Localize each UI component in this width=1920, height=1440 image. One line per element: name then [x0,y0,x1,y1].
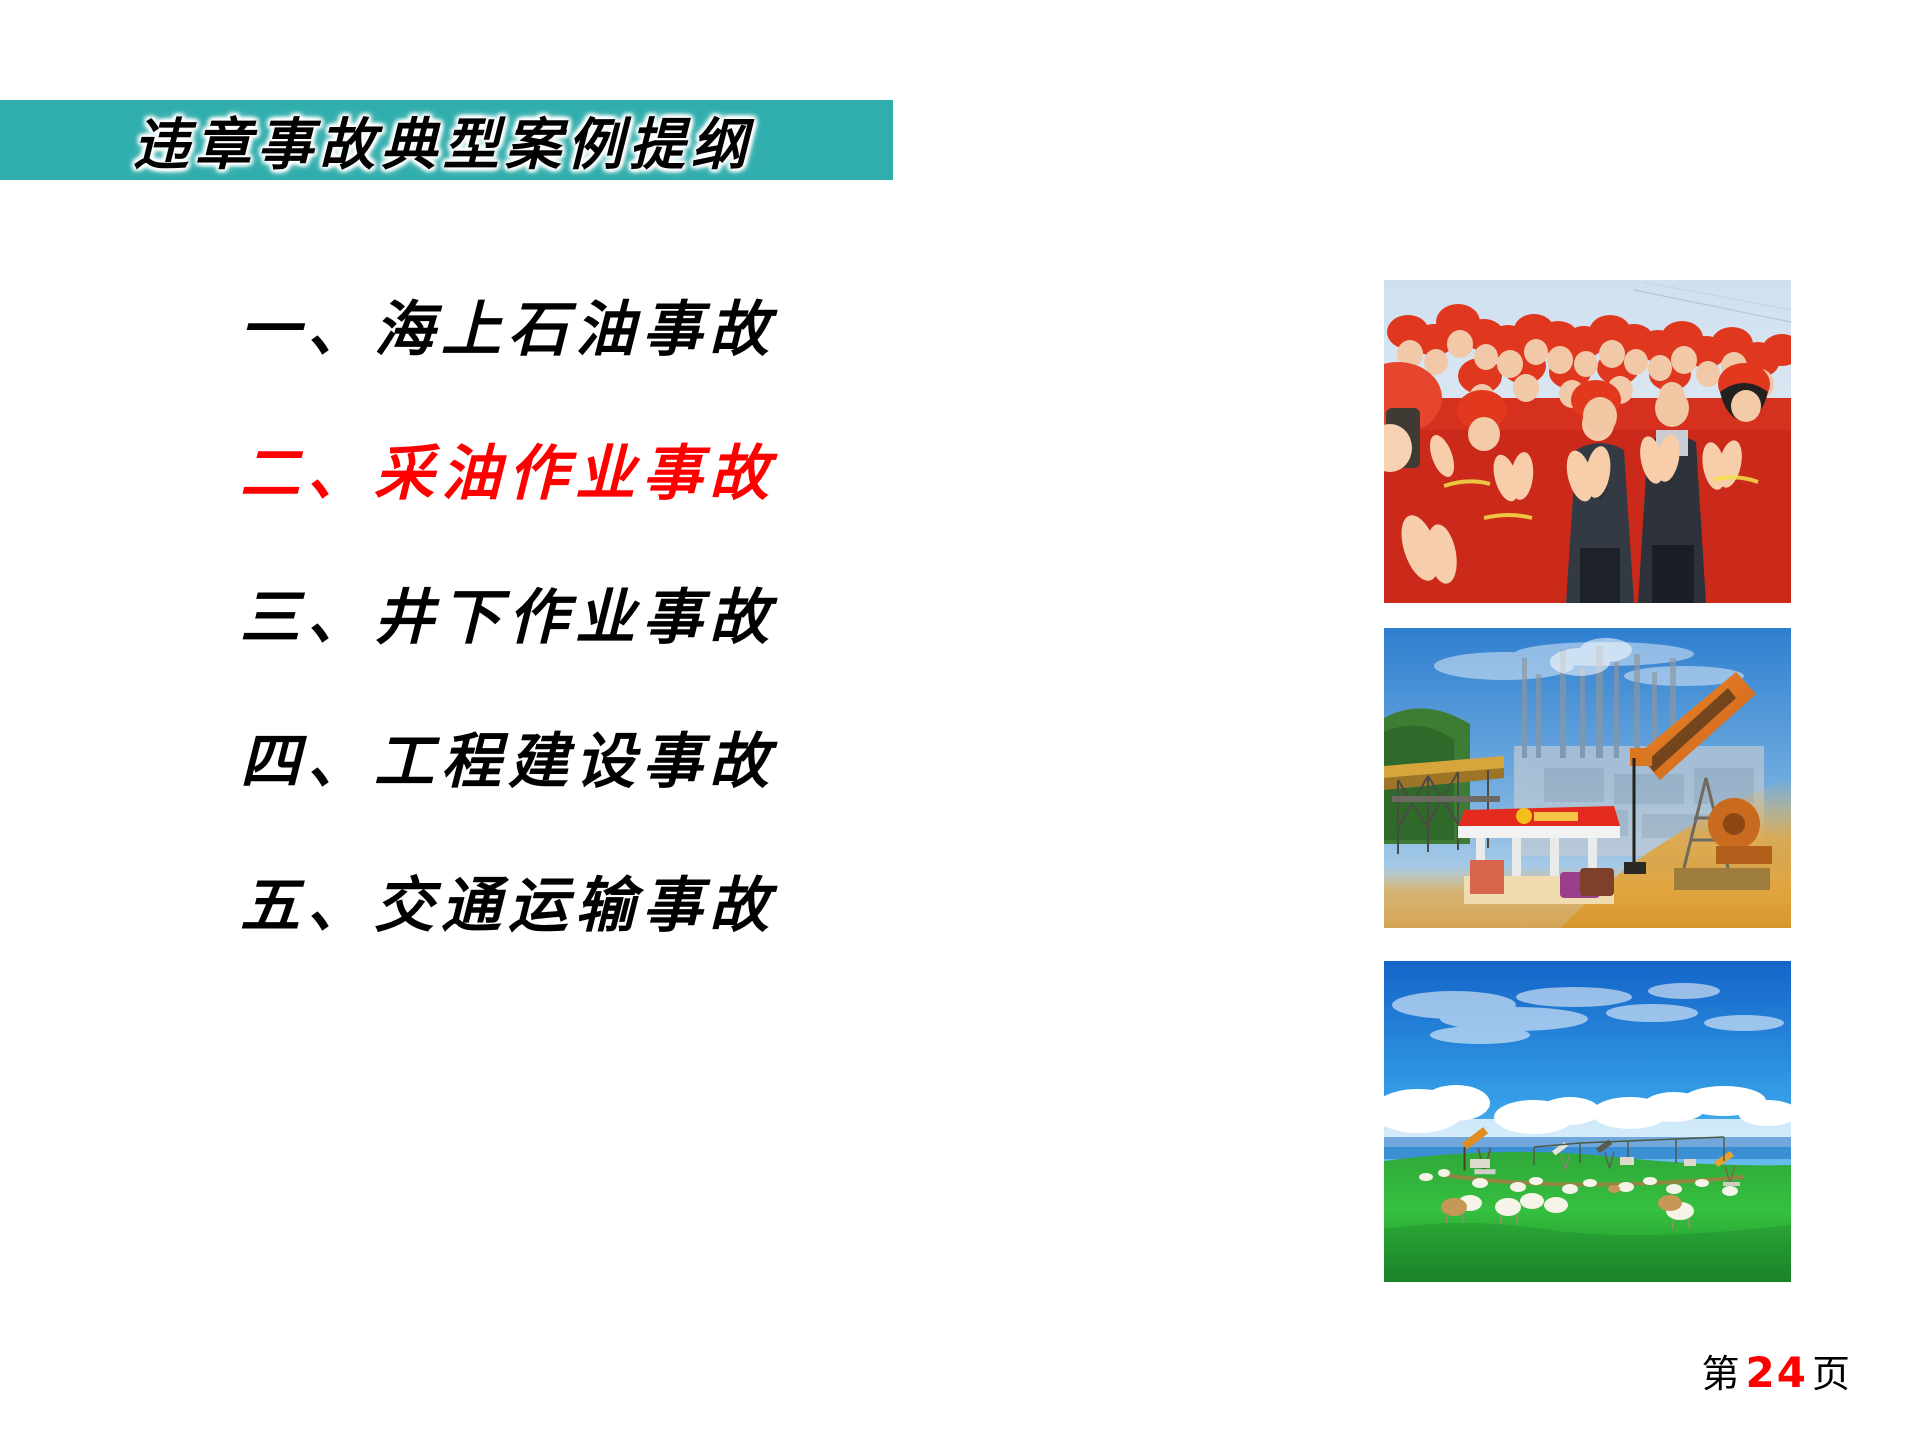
outline-item-4-label: 工程建设事故 [374,727,776,797]
outline-item-1-label: 海上石油事故 [374,295,776,365]
page-number-suffix: 页 [1812,1352,1852,1396]
page-number-footer: 第24页 [1702,1343,1852,1398]
outline-item-5-label: 交通运输事故 [374,871,776,941]
slide-canvas: 违章事故典型案例提纲 一、海上石油事故 二、采油作业事故 三、井下作业事故 四、… [0,0,1920,1440]
outline-item-1-number: 一、 [240,295,374,365]
outline-item-3[interactable]: 三、井下作业事故 [240,588,1060,648]
outline-item-2-label: 采油作业事故 [374,439,776,509]
petroleum-industry-composite-photo [1384,628,1791,928]
outline-item-5-number: 五、 [240,871,374,941]
outline-item-3-label: 井下作业事故 [374,583,776,653]
outline-item-2[interactable]: 二、采油作业事故 [240,444,1060,504]
outline-list: 一、海上石油事故 二、采油作业事故 三、井下作业事故 四、工程建设事故 五、交通… [240,300,1060,936]
outline-item-5[interactable]: 五、交通运输事故 [240,876,1060,936]
outline-item-4[interactable]: 四、工程建设事故 [240,732,1060,792]
outline-item-4-number: 四、 [240,727,374,797]
oilfield-workers-applauding-photo [1384,280,1791,603]
outline-item-3-number: 三、 [240,583,374,653]
outline-item-2-number: 二、 [240,439,374,509]
outline-item-1[interactable]: 一、海上石油事故 [240,300,1060,360]
page-title: 违章事故典型案例提纲 [0,100,893,180]
page-number-value: 24 [1742,1348,1812,1397]
grassland-oilfield-photo [1384,961,1791,1282]
page-number-prefix: 第 [1702,1352,1742,1396]
